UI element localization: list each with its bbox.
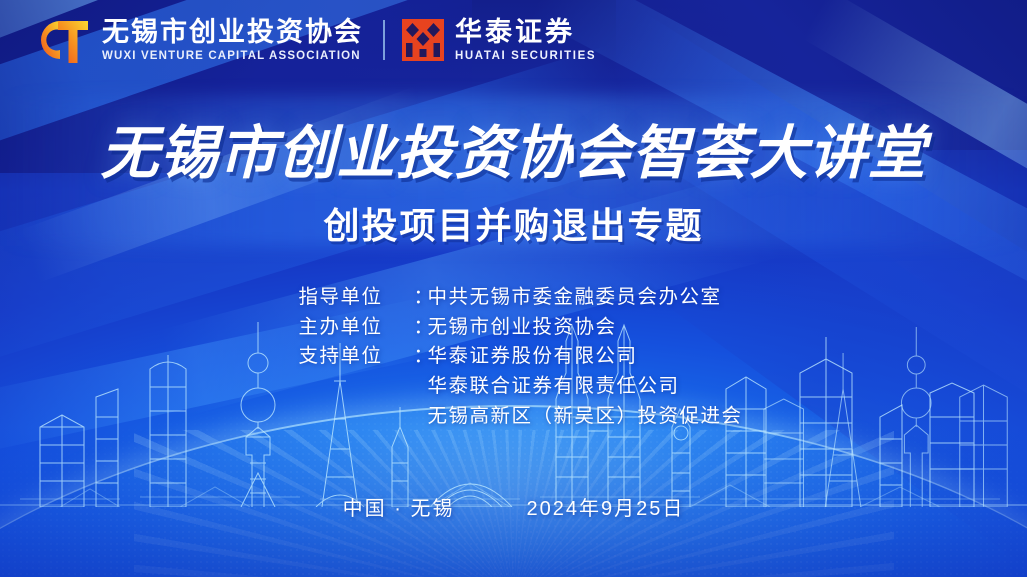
organizer-value: 华泰联合证券有限责任公司 — [428, 372, 729, 402]
organizer-row: 支持单位 ： 华泰证券股份有限公司 — [299, 342, 729, 372]
poster-main-title: 无锡市创业投资协会智荟大讲堂 — [0, 124, 1027, 185]
organizer-colon: ： — [414, 342, 428, 372]
organizer-row: 指导单位 ： 中共无锡市委金融委员会办公室 — [299, 283, 729, 313]
huatai-square-icon — [402, 19, 444, 61]
wxvca-name-cn: 无锡市创业投资协会 — [102, 18, 363, 46]
organizer-label: 主办单位 — [299, 313, 414, 343]
organizer-label: 指导单位 — [299, 283, 414, 313]
organizer-label: 支持单位 — [299, 342, 414, 372]
wxvca-name-en: WUXI VENTURE CAPITAL ASSOCIATION — [102, 50, 363, 62]
organizer-colon: ： — [414, 283, 428, 313]
organizer-colon: ： — [414, 313, 428, 343]
footer-location: 中国 · 无锡 — [343, 492, 455, 521]
organizer-list: 指导单位 ： 中共无锡市委金融委员会办公室 主办单位 ： 无锡市创业投资协会 支… — [0, 283, 1027, 431]
poster-footer: 中国 · 无锡 2024年9月25日 — [0, 492, 1027, 521]
organizer-value: 华泰证券股份有限公司 — [428, 342, 729, 372]
huatai-name-en: HUATAI SECURITIES — [455, 50, 596, 62]
organizer-row: 主办单位 ： 无锡市创业投资协会 — [299, 313, 729, 343]
organizer-row-continuation: 华泰联合证券有限责任公司 — [299, 372, 729, 402]
organizer-value: 无锡市创业投资协会 — [428, 313, 729, 343]
logo-bar: 无锡市创业投资协会 WUXI VENTURE CAPITAL ASSOCIATI… — [30, 14, 596, 66]
logo-divider — [383, 20, 385, 60]
organizer-row-continuation: 无锡高新区（新吴区）投资促进会 — [299, 402, 729, 432]
huatai-name-cn: 华泰证券 — [455, 18, 596, 46]
organizer-value: 中共无锡市委金融委员会办公室 — [428, 283, 729, 313]
footer-date: 2024年9月25日 — [526, 492, 684, 521]
ct-monogram-icon — [30, 14, 92, 66]
poster-canvas: 无锡市创业投资协会 WUXI VENTURE CAPITAL ASSOCIATI… — [0, 0, 1027, 577]
poster-sub-title: 创投项目并购退出专题 — [0, 197, 1027, 249]
organizer-value: 无锡高新区（新吴区）投资促进会 — [428, 402, 743, 432]
huatai-logo-text: 华泰证券 HUATAI SECURITIES — [455, 18, 596, 61]
wxvca-logo-text: 无锡市创业投资协会 WUXI VENTURE CAPITAL ASSOCIATI… — [102, 18, 363, 61]
